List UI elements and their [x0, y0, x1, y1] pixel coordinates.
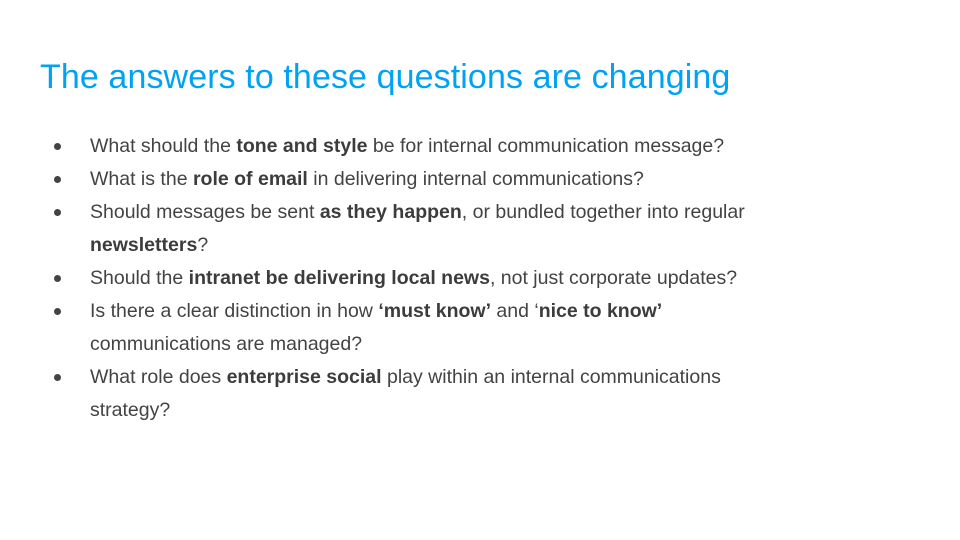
- bullet-list: What should the tone and style be for in…: [40, 130, 820, 427]
- bullet-point-icon: [54, 209, 61, 216]
- list-item: Is there a clear distinction in how ‘mus…: [40, 295, 800, 361]
- bullet-point-icon: [54, 176, 61, 183]
- list-item: Should the intranet be delivering local …: [40, 262, 800, 295]
- list-item-text: Is there a clear distinction in how ‘mus…: [90, 295, 800, 361]
- list-item-text: What role does enterprise social play wi…: [90, 361, 800, 427]
- list-item-text: Should messages be sent as they happen, …: [90, 196, 800, 262]
- list-item: What role does enterprise social play wi…: [40, 361, 800, 427]
- slide-canvas: The answers to these questions are chang…: [0, 0, 960, 540]
- bullet-point-icon: [54, 308, 61, 315]
- page-title: The answers to these questions are chang…: [40, 55, 920, 99]
- list-item: Should messages be sent as they happen, …: [40, 196, 800, 262]
- list-item-text: Should the intranet be delivering local …: [90, 262, 800, 295]
- list-item: What should the tone and style be for in…: [40, 130, 800, 163]
- list-item-text: What is the role of email in delivering …: [90, 163, 800, 196]
- list-item-text: What should the tone and style be for in…: [90, 130, 800, 163]
- bullet-point-icon: [54, 275, 61, 282]
- bullet-point-icon: [54, 374, 61, 381]
- list-item: What is the role of email in delivering …: [40, 163, 800, 196]
- bullet-point-icon: [54, 143, 61, 150]
